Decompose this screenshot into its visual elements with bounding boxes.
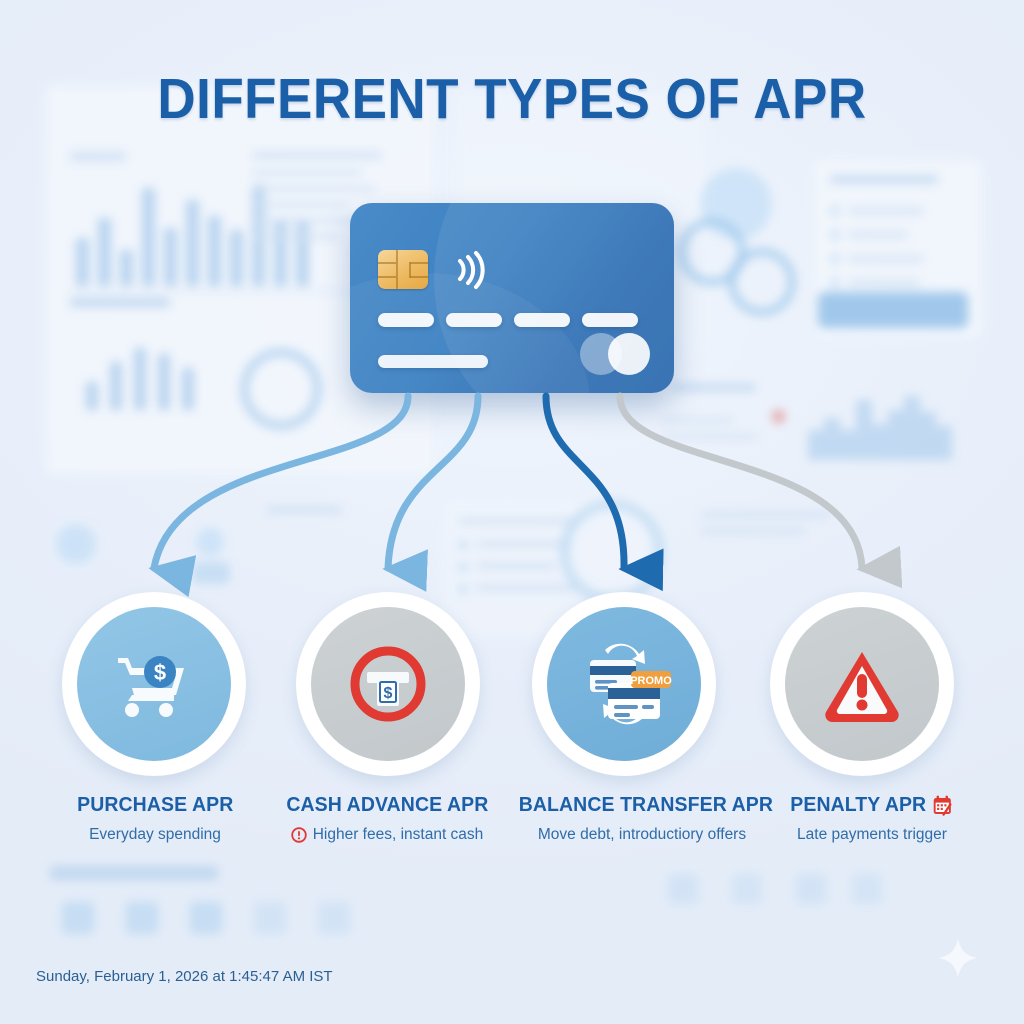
node-cash-advance-apr[interactable]: $ xyxy=(296,592,480,776)
label-purchase-apr: PURCHASE APR Everyday spending xyxy=(30,793,280,844)
calendar-late-icon xyxy=(932,794,953,816)
label-balance-transfer-apr: BALANCE TRANSFER APR Move debt, introduc… xyxy=(512,793,772,844)
node-balance-transfer-apr[interactable]: PROMO xyxy=(532,592,716,776)
node-subtitle-row: Everyday spending xyxy=(89,826,221,844)
node-subtitle: Late payments trigger xyxy=(797,826,947,844)
card-transfer-promo-icon: PROMO xyxy=(532,592,716,776)
promo-badge: PROMO xyxy=(630,671,672,688)
node-title: PENALTY APR xyxy=(791,793,927,817)
svg-text:$: $ xyxy=(384,685,393,702)
node-title: CASH ADVANCE APR xyxy=(286,793,488,817)
node-subtitle-row: Late payments trigger xyxy=(797,826,947,844)
node-title: BALANCE TRANSFER APR xyxy=(519,793,773,817)
node-subtitle-row: Higher fees, instant cash xyxy=(291,826,484,844)
connector-to-penalty xyxy=(620,396,862,568)
timestamp: Sunday, February 1, 2026 at 1:45:47 AM I… xyxy=(36,968,333,985)
node-title-row: PENALTY APR xyxy=(791,793,954,817)
node-subtitle: Higher fees, instant cash xyxy=(313,826,484,844)
node-subtitle-row: Move debt, introductiory offers xyxy=(538,826,746,844)
label-penalty-apr: PENALTY APR Late payments trigger xyxy=(742,793,1002,844)
label-cash-advance-apr: CASH ADVANCE APR Higher fees, instant ca… xyxy=(262,793,512,848)
exclamation-circle-icon xyxy=(291,827,307,843)
connector-to-purchase xyxy=(154,396,408,568)
warning-triangle-icon xyxy=(770,592,954,776)
connector-to-balance-transfer xyxy=(546,396,624,568)
connector-to-cash-advance xyxy=(388,396,478,568)
connector-arrows xyxy=(0,0,1024,1024)
node-subtitle: Everyday spending xyxy=(89,826,221,844)
svg-text:$: $ xyxy=(154,660,166,685)
infographic-canvas: DIFFERENT TYPES OF APR xyxy=(0,0,1024,1024)
node-penalty-apr[interactable] xyxy=(770,592,954,776)
atm-cash-dispenser-icon: $ xyxy=(296,592,480,776)
node-purchase-apr[interactable]: $ xyxy=(62,592,246,776)
shopping-cart-dollar-icon: $ xyxy=(62,592,246,776)
node-title: PURCHASE APR xyxy=(77,793,233,817)
promo-badge-label: PROMO xyxy=(630,675,672,687)
node-subtitle: Move debt, introductiory offers xyxy=(538,826,746,844)
sparkle-icon xyxy=(936,936,980,980)
